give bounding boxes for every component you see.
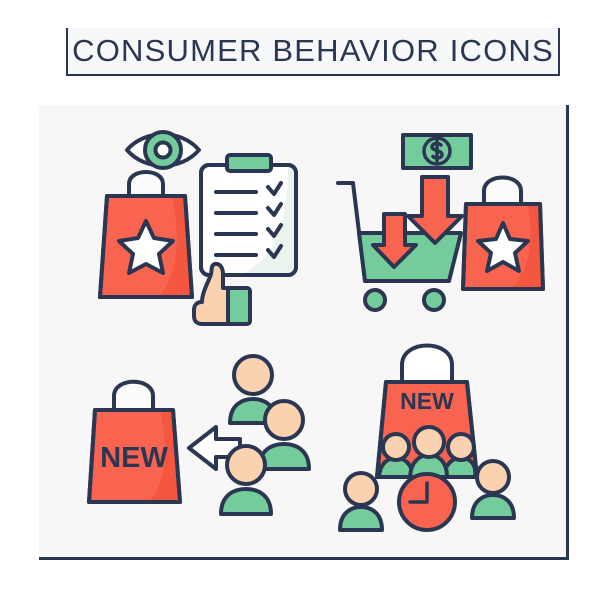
icon-new-product-adoption[interactable]: NEW <box>87 355 327 525</box>
icon-purchase-decision[interactable] <box>329 130 554 325</box>
person-right-icon <box>472 461 514 518</box>
page-title-box: CONSUMER BEHAVIOR ICONS <box>66 28 560 76</box>
shopping-bag-new-icon: NEW <box>89 382 180 502</box>
shopping-bag-new-icon: NEW <box>377 346 477 478</box>
icons-panel: NEW <box>39 105 569 560</box>
shopping-bag-star-icon <box>100 172 192 297</box>
poster-root: CONSUMER BEHAVIOR ICONS <box>0 0 612 612</box>
people-inside-bag-icon <box>379 427 475 477</box>
bag-new-label: NEW <box>100 442 168 474</box>
shopping-bag-star-icon <box>463 178 543 290</box>
person-left-icon <box>340 473 382 530</box>
eye-icon <box>127 132 199 168</box>
dollar-bill-icon <box>403 135 471 168</box>
icon-new-launch-waiting[interactable]: NEW <box>334 337 559 532</box>
clock-icon <box>399 474 455 530</box>
icon-attention-evaluation[interactable] <box>89 120 319 335</box>
page-title: CONSUMER BEHAVIOR ICONS <box>72 33 554 69</box>
bag-new-label: NEW <box>400 388 454 414</box>
people-group-icon <box>221 356 309 514</box>
checklist-clipboard-icon <box>201 155 296 275</box>
